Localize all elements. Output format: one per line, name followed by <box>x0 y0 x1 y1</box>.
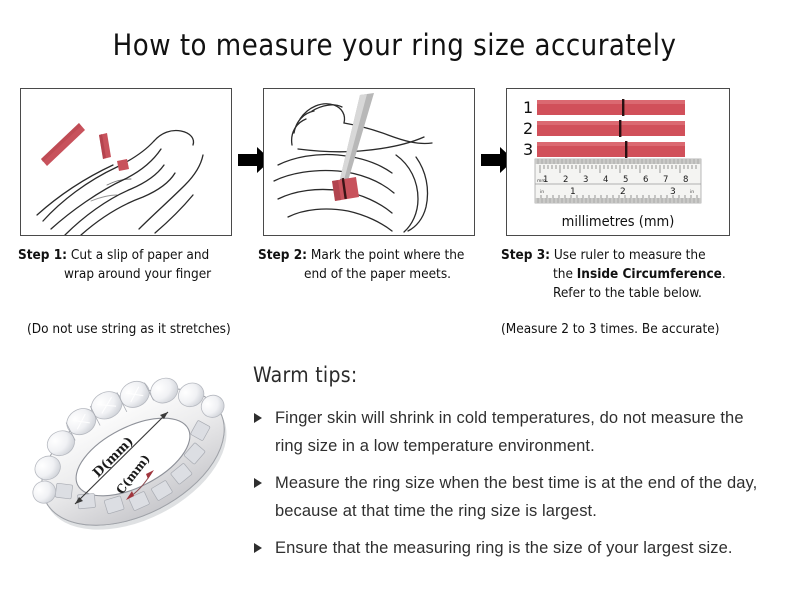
step-3-illustration-panel: 1 2 3 <box>506 88 730 236</box>
step-1-line-1: Cut a slip of paper and <box>71 247 209 263</box>
step-2-lead: Step 2: <box>258 247 307 263</box>
svg-text:2: 2 <box>563 175 568 185</box>
step-3-note: (Measure 2 to 3 times. Be accurate) <box>501 321 719 337</box>
step-3-line-2-prefix: the <box>553 266 577 282</box>
step-2-caption: Step 2: Mark the point where the end of … <box>258 246 493 284</box>
svg-text:8: 8 <box>683 175 688 185</box>
hand-with-paper-strip-drawing <box>21 89 231 235</box>
warm-tip-text: Finger skin will shrink in cold temperat… <box>275 409 744 455</box>
step-3-lead: Step 3: <box>501 247 550 263</box>
step-2-illustration-panel <box>263 88 475 236</box>
step-1-lead: Step 1: <box>18 247 67 263</box>
step-3-caption: Step 3: Use ruler to measure the the Ins… <box>501 246 771 303</box>
svg-text:7: 7 <box>663 175 668 185</box>
paper-strip-loose <box>41 123 85 166</box>
ruler-unit-caption: millimetres (mm) <box>562 214 675 230</box>
warm-tip-text: Ensure that the measuring ring is the si… <box>275 539 733 557</box>
bullet-triangle-icon <box>254 478 262 488</box>
strip-label-2: 2 <box>523 119 533 138</box>
warm-tip-item: Ensure that the measuring ring is the si… <box>253 534 773 562</box>
hand-marking-paper-drawing <box>264 89 474 235</box>
warm-tips-section: Warm tips: Finger skin will shrink in co… <box>253 363 773 571</box>
svg-text:5: 5 <box>623 175 628 185</box>
svg-text:3: 3 <box>583 175 588 185</box>
bullet-triangle-icon <box>254 543 262 553</box>
strip-label-3: 3 <box>523 140 533 159</box>
ring-illustration: D(mm) C(mm) <box>22 352 244 567</box>
strip-label-1: 1 <box>523 98 533 117</box>
step-1-caption: Step 1: Cut a slip of paper and wrap aro… <box>18 246 253 284</box>
step-1-line-2: wrap around your finger <box>18 265 253 284</box>
ring-diagram: D(mm) C(mm) <box>22 352 244 567</box>
svg-text:in: in <box>540 189 544 195</box>
paper-band-with-mark <box>332 177 359 201</box>
step-3-line-3: Refer to the table below. <box>501 284 771 303</box>
page-title: How to measure your ring size accurately <box>0 28 789 62</box>
warm-tip-text: Measure the ring size when the best time… <box>275 474 757 520</box>
warm-tips-heading: Warm tips: <box>253 363 773 387</box>
ruler-mm-unit-label: mm <box>537 179 546 184</box>
svg-text:4: 4 <box>603 175 608 185</box>
svg-text:6: 6 <box>643 175 648 185</box>
warm-tip-item: Measure the ring size when the best time… <box>253 469 773 525</box>
steps-row: 1 2 3 <box>20 88 772 238</box>
bullet-triangle-icon <box>254 413 262 423</box>
ruler: 1 2 3 4 5 6 7 8 mm 1 2 3 in <box>535 159 701 203</box>
warm-tip-item: Finger skin will shrink in cold temperat… <box>253 404 773 460</box>
svg-text:in: in <box>690 189 694 195</box>
paper-strip-wrapped <box>99 133 129 171</box>
step-captions: Step 1: Cut a slip of paper and wrap aro… <box>0 246 789 356</box>
inside-circumference-emphasis: Inside Circumference <box>577 266 722 282</box>
strips-over-ruler-drawing: 1 2 3 <box>507 89 729 235</box>
step-3-line-2-suffix: . <box>722 266 726 282</box>
step-2-line-2: end of the paper meets. <box>258 265 493 284</box>
step-1-illustration-panel <box>20 88 232 236</box>
step-3-line-1: Use ruler to measure the <box>554 247 706 263</box>
step-2-line-1: Mark the point where the <box>311 247 465 263</box>
step-1-note: (Do not use string as it stretches) <box>27 321 231 337</box>
step-3-line-2: the Inside Circumference. <box>501 265 771 284</box>
